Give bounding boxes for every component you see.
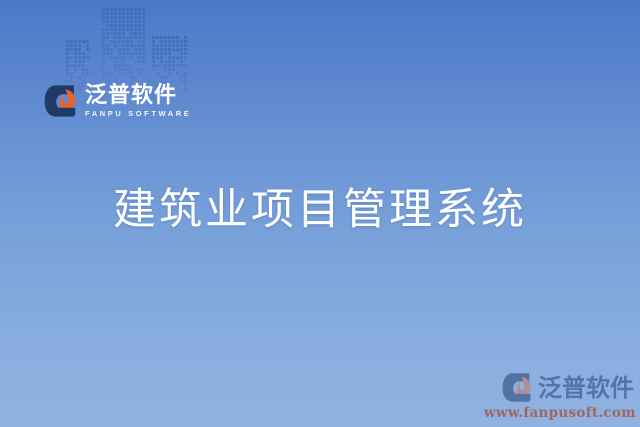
skyline-pixel bbox=[118, 24, 121, 27]
skyline-pixel bbox=[118, 16, 121, 19]
skyline-pixel bbox=[142, 12, 145, 15]
brand-name-cn: 泛普软件 bbox=[85, 84, 191, 107]
skyline-pixel bbox=[130, 76, 133, 79]
skyline-pixel bbox=[176, 44, 179, 47]
skyline-pixel bbox=[168, 36, 171, 39]
skyline-pixel bbox=[152, 48, 155, 51]
skyline-pixel bbox=[110, 40, 113, 43]
skyline-pixel bbox=[142, 52, 145, 55]
skyline-pixel bbox=[70, 48, 73, 51]
skyline-pixel bbox=[118, 56, 121, 59]
skyline-pixel bbox=[176, 48, 179, 51]
skyline-pixel bbox=[102, 52, 105, 55]
skyline-pixel bbox=[164, 68, 167, 71]
skyline-pixel bbox=[138, 16, 141, 19]
skyline-pixel bbox=[180, 76, 183, 79]
skyline-pixel bbox=[86, 56, 89, 59]
skyline-pixel bbox=[74, 64, 77, 67]
skyline-pixel bbox=[110, 48, 113, 51]
skyline-pixel bbox=[156, 36, 159, 39]
skyline-pixel bbox=[110, 20, 113, 23]
skyline-pixel bbox=[168, 44, 171, 47]
skyline-pixel bbox=[142, 68, 145, 71]
skyline-pixel bbox=[78, 48, 81, 51]
skyline-pixel bbox=[126, 52, 129, 55]
skyline-pixel bbox=[168, 48, 171, 51]
skyline-pixel bbox=[106, 12, 109, 15]
skyline-pixel bbox=[160, 52, 163, 55]
skyline-pixel bbox=[176, 40, 179, 43]
skyline-pixel bbox=[138, 24, 141, 27]
skyline-pixel bbox=[122, 40, 125, 43]
skyline-pixel bbox=[102, 72, 105, 75]
skyline-pixel bbox=[114, 76, 117, 79]
skyline-pixel bbox=[164, 40, 167, 43]
skyline-pixel bbox=[126, 8, 129, 11]
skyline-pixel bbox=[138, 44, 141, 47]
skyline-pixel bbox=[66, 68, 69, 71]
skyline-pixel bbox=[134, 24, 137, 27]
skyline-pixel bbox=[172, 48, 175, 51]
skyline-pixel bbox=[176, 56, 179, 59]
skyline-pixel bbox=[164, 60, 167, 63]
skyline-pixel bbox=[102, 68, 105, 71]
skyline-pixel bbox=[102, 32, 105, 35]
skyline-pixel bbox=[66, 40, 69, 43]
skyline-pixel bbox=[138, 68, 141, 71]
skyline-pixel bbox=[74, 56, 77, 59]
skyline-pixel bbox=[184, 64, 187, 67]
skyline-pixel bbox=[74, 60, 77, 63]
skyline-pixel bbox=[184, 48, 187, 51]
skyline-pixel bbox=[152, 40, 155, 43]
skyline-pixel bbox=[164, 76, 167, 79]
skyline-pixel bbox=[160, 56, 163, 59]
skyline-pixel bbox=[106, 36, 109, 39]
skyline-pixel bbox=[138, 8, 141, 11]
skyline-pixel bbox=[74, 52, 77, 55]
skyline-pixel bbox=[66, 44, 69, 47]
skyline-pixel bbox=[156, 44, 159, 47]
skyline-pixel bbox=[118, 28, 121, 31]
skyline-pixel bbox=[110, 8, 113, 11]
skyline-pixel bbox=[156, 52, 159, 55]
skyline-pixel bbox=[106, 24, 109, 27]
skyline-pixel bbox=[82, 56, 85, 59]
skyline-pixel bbox=[102, 28, 105, 31]
brand-logo: 泛普软件 FANPU SOFTWARE bbox=[44, 84, 191, 118]
skyline-pixel bbox=[142, 44, 145, 47]
skyline-pixel bbox=[74, 40, 77, 43]
skyline-pixel bbox=[160, 60, 163, 63]
skyline-pixel bbox=[114, 68, 117, 71]
skyline-pixel bbox=[142, 56, 145, 59]
skyline-pixel bbox=[160, 40, 163, 43]
skyline-pixel bbox=[134, 20, 137, 23]
skyline-pixel bbox=[130, 40, 133, 43]
skyline-pixel bbox=[78, 60, 81, 63]
skyline-pixel bbox=[122, 44, 125, 47]
skyline-pixel bbox=[168, 68, 171, 71]
skyline-pixel bbox=[110, 32, 113, 35]
skyline-pixel bbox=[152, 60, 155, 63]
skyline-pixel bbox=[126, 64, 129, 67]
skyline-pixel bbox=[110, 28, 113, 31]
skyline-pixel bbox=[138, 32, 141, 35]
skyline-pixel bbox=[118, 20, 121, 23]
skyline-pixel bbox=[180, 80, 183, 83]
skyline-pixel bbox=[66, 72, 69, 75]
skyline-pixel bbox=[110, 16, 113, 19]
skyline-pixel bbox=[168, 64, 171, 67]
skyline-pixel bbox=[142, 48, 145, 51]
skyline-pixel bbox=[184, 36, 187, 39]
skyline-pixel bbox=[82, 72, 85, 75]
skyline-pixel bbox=[156, 48, 159, 51]
skyline-pixel bbox=[86, 68, 89, 71]
skyline-pixel bbox=[142, 28, 145, 31]
skyline-pixel bbox=[82, 40, 85, 43]
skyline-pixel bbox=[114, 36, 117, 39]
skyline-pixel bbox=[142, 40, 145, 43]
skyline-pixel bbox=[134, 36, 137, 39]
skyline-pixel bbox=[66, 56, 69, 59]
skyline-pixel bbox=[152, 56, 155, 59]
skyline-pixel bbox=[126, 68, 129, 71]
skyline-pixel bbox=[110, 52, 113, 55]
skyline-pixel bbox=[180, 64, 183, 67]
skyline-pixel bbox=[114, 12, 117, 15]
skyline-pixel bbox=[142, 24, 145, 27]
skyline-pixel bbox=[176, 64, 179, 67]
skyline-pixel bbox=[138, 56, 141, 59]
watermark-name-cn: 泛普软件 bbox=[538, 376, 634, 400]
skyline-pixel bbox=[172, 44, 175, 47]
skyline-pixel bbox=[138, 52, 141, 55]
skyline-pixel bbox=[66, 48, 69, 51]
skyline-pixel bbox=[180, 56, 183, 59]
skyline-pixel bbox=[106, 52, 109, 55]
skyline-pixel bbox=[102, 12, 105, 15]
skyline-pixel bbox=[82, 52, 85, 55]
skyline-pixel bbox=[122, 28, 125, 31]
skyline-pixel bbox=[106, 48, 109, 51]
skyline-pixel bbox=[86, 40, 89, 43]
skyline-pixel bbox=[122, 48, 125, 51]
skyline-pixel bbox=[138, 48, 141, 51]
skyline-pixel bbox=[78, 52, 81, 55]
skyline-pixel bbox=[114, 8, 117, 11]
skyline-pixel bbox=[160, 76, 163, 79]
skyline-pixel bbox=[142, 8, 145, 11]
skyline-pixel bbox=[134, 16, 137, 19]
skyline-pixel bbox=[130, 16, 133, 19]
skyline-pixel bbox=[106, 8, 109, 11]
skyline-pixel bbox=[106, 16, 109, 19]
skyline-pixel bbox=[106, 44, 109, 47]
skyline-pixel bbox=[180, 48, 183, 51]
page-title: 建筑业项目管理系统 bbox=[0, 186, 640, 235]
skyline-pixel bbox=[138, 40, 141, 43]
skyline-pixel bbox=[134, 8, 137, 11]
skyline-pixel bbox=[110, 72, 113, 75]
skyline-pixel bbox=[66, 80, 69, 83]
skyline-pixel bbox=[102, 36, 105, 39]
skyline-pixel bbox=[142, 20, 145, 23]
skyline-pixel bbox=[164, 48, 167, 51]
skyline-pixel bbox=[130, 72, 133, 75]
skyline-pixel bbox=[164, 52, 167, 55]
skyline-pixel bbox=[122, 16, 125, 19]
skyline-pixel bbox=[130, 8, 133, 11]
skyline-pixel bbox=[126, 28, 129, 31]
skyline-pixel bbox=[138, 28, 141, 31]
skyline-pixel bbox=[168, 56, 171, 59]
skyline-pixel bbox=[160, 44, 163, 47]
skyline-pixel bbox=[118, 32, 121, 35]
watermark-logo-row: 泛普软件 bbox=[484, 372, 634, 403]
skyline-pixel bbox=[142, 36, 145, 39]
skyline-pixel bbox=[130, 24, 133, 27]
skyline-pixel bbox=[70, 56, 73, 59]
skyline-pixel bbox=[172, 60, 175, 63]
skyline-pixel bbox=[184, 72, 187, 75]
splash-screen: 泛普软件 FANPU SOFTWARE 建筑业项目管理系统 泛普软件 www.f… bbox=[0, 0, 640, 427]
skyline-pixel bbox=[130, 32, 133, 35]
skyline-pixel bbox=[86, 72, 89, 75]
skyline-pixel bbox=[106, 72, 109, 75]
skyline-pixel bbox=[70, 72, 73, 75]
skyline-pixel bbox=[176, 36, 179, 39]
skyline-pixel bbox=[102, 20, 105, 23]
skyline-pixel bbox=[70, 76, 73, 79]
skyline-pixel bbox=[168, 72, 171, 75]
skyline-pixel bbox=[184, 40, 187, 43]
skyline-pixel bbox=[184, 56, 187, 59]
skyline-pixel bbox=[70, 64, 73, 67]
brand-wordmark: 泛普软件 FANPU SOFTWARE bbox=[85, 84, 191, 118]
skyline-pixel bbox=[74, 68, 77, 71]
skyline-pixel bbox=[180, 52, 183, 55]
skyline-pixel bbox=[134, 12, 137, 15]
skyline-pixel bbox=[122, 8, 125, 11]
skyline-pixel bbox=[130, 44, 133, 47]
fanpu-logo-mark-watermark-icon bbox=[502, 372, 533, 403]
skyline-pixel bbox=[130, 36, 133, 39]
skyline-pixel bbox=[138, 12, 141, 15]
skyline-pixel bbox=[134, 60, 137, 63]
skyline-pixel bbox=[106, 32, 109, 35]
skyline-pixel bbox=[152, 44, 155, 47]
skyline-pixel bbox=[102, 76, 105, 79]
skyline-pixel bbox=[66, 64, 69, 67]
skyline-pixel bbox=[122, 72, 125, 75]
skyline-pixel bbox=[138, 60, 141, 63]
skyline-pixel bbox=[126, 20, 129, 23]
skyline-pixel bbox=[102, 48, 105, 51]
brand-name-en: FANPU SOFTWARE bbox=[85, 110, 191, 118]
skyline-pixel bbox=[152, 52, 155, 55]
skyline-pixel bbox=[126, 44, 129, 47]
skyline-pixel bbox=[126, 48, 129, 51]
skyline-pixel bbox=[126, 40, 129, 43]
skyline-pixel bbox=[114, 32, 117, 35]
skyline-pixel bbox=[130, 12, 133, 15]
skyline-pixel bbox=[126, 36, 129, 39]
skyline-pixel bbox=[134, 48, 137, 51]
skyline-pixel bbox=[184, 80, 187, 83]
skyline-pixel bbox=[122, 56, 125, 59]
skyline-pixel bbox=[122, 64, 125, 67]
skyline-pixel bbox=[118, 64, 121, 67]
skyline-pixel bbox=[138, 72, 141, 75]
skyline-pixel bbox=[102, 44, 105, 47]
skyline-pixel bbox=[118, 8, 121, 11]
skyline-pixel bbox=[66, 52, 69, 55]
skyline-pixel bbox=[102, 8, 105, 11]
skyline-pixel bbox=[106, 28, 109, 31]
skyline-pixel bbox=[74, 44, 77, 47]
skyline-pixel bbox=[152, 64, 155, 67]
skyline-pixel bbox=[78, 40, 81, 43]
skyline-pixel bbox=[122, 36, 125, 39]
skyline-pixel bbox=[126, 12, 129, 15]
skyline-pixel bbox=[122, 24, 125, 27]
skyline-pixel bbox=[160, 36, 163, 39]
skyline-pixel bbox=[118, 68, 121, 71]
skyline-pixel bbox=[184, 52, 187, 55]
skyline-pixel bbox=[138, 36, 141, 39]
skyline-pixel bbox=[126, 72, 129, 75]
skyline-pixel bbox=[118, 48, 121, 51]
skyline-pixel bbox=[118, 12, 121, 15]
skyline-pixel bbox=[172, 36, 175, 39]
skyline-pixel bbox=[160, 48, 163, 51]
skyline-pixel bbox=[142, 16, 145, 19]
skyline-pixel bbox=[74, 48, 77, 51]
skyline-pixel bbox=[156, 64, 159, 67]
skyline-pixel bbox=[118, 40, 121, 43]
skyline-pixel bbox=[156, 72, 159, 75]
skyline-pixel bbox=[78, 56, 81, 59]
skyline-pixel bbox=[172, 68, 175, 71]
skyline-pixel bbox=[134, 76, 137, 79]
skyline-pixel bbox=[134, 44, 137, 47]
skyline-pixel bbox=[130, 28, 133, 31]
skyline-pixel bbox=[114, 16, 117, 19]
skyline-pixel bbox=[122, 12, 125, 15]
skyline-pixel bbox=[172, 56, 175, 59]
skyline-pixel bbox=[122, 20, 125, 23]
skyline-pixel bbox=[130, 68, 133, 71]
skyline-pixel bbox=[102, 60, 105, 63]
fanpu-logo-mark-icon bbox=[44, 84, 78, 118]
skyline-pixel bbox=[102, 40, 105, 43]
skyline-pixel bbox=[168, 40, 171, 43]
skyline-pixel bbox=[168, 60, 171, 63]
skyline-pixel bbox=[168, 52, 171, 55]
skyline-pixel bbox=[138, 20, 141, 23]
watermark-url: www.fanpusoft.com bbox=[484, 405, 634, 421]
skyline-pixel bbox=[156, 56, 159, 59]
skyline-pixel bbox=[172, 64, 175, 67]
skyline-pixel bbox=[164, 36, 167, 39]
skyline-pixel bbox=[82, 64, 85, 67]
skyline-pixel bbox=[114, 40, 117, 43]
skyline-pixel bbox=[142, 60, 145, 63]
skyline-pixel bbox=[78, 44, 81, 47]
skyline-pixel bbox=[122, 32, 125, 35]
skyline-pixel bbox=[180, 44, 183, 47]
skyline-pixel bbox=[164, 64, 167, 67]
skyline-pixel bbox=[134, 28, 137, 31]
skyline-pixel bbox=[78, 76, 81, 79]
skyline-pixel bbox=[114, 24, 117, 27]
skyline-pixel bbox=[122, 52, 125, 55]
skyline-pixel bbox=[110, 24, 113, 27]
skyline-pixel bbox=[130, 56, 133, 59]
skyline-pixel bbox=[184, 76, 187, 79]
skyline-pixel bbox=[152, 36, 155, 39]
skyline-pixel bbox=[142, 32, 145, 35]
skyline-pixel bbox=[110, 56, 113, 59]
skyline-pixel bbox=[118, 52, 121, 55]
skyline-pixel bbox=[70, 44, 73, 47]
skyline-pixel bbox=[86, 44, 89, 47]
skyline-pixel bbox=[122, 60, 125, 63]
skyline-pixel bbox=[126, 16, 129, 19]
skyline-pixel bbox=[82, 60, 85, 63]
skyline-pixel bbox=[172, 40, 175, 43]
skyline-pixel bbox=[130, 20, 133, 23]
skyline-pixel bbox=[70, 40, 73, 43]
skyline-pixel bbox=[180, 40, 183, 43]
skyline-pixel bbox=[86, 48, 89, 51]
skyline-pixel bbox=[114, 20, 117, 23]
skyline-pixel bbox=[102, 16, 105, 19]
skyline-pixel bbox=[164, 44, 167, 47]
skyline-pixel bbox=[152, 68, 155, 71]
skyline-pixel bbox=[106, 20, 109, 23]
skyline-pixel bbox=[184, 44, 187, 47]
watermark: 泛普软件 www.fanpusoft.com bbox=[484, 372, 634, 421]
skyline-pixel bbox=[180, 60, 183, 63]
skyline-pixel bbox=[126, 24, 129, 27]
skyline-pixel bbox=[114, 56, 117, 59]
skyline-pixel bbox=[66, 60, 69, 63]
skyline-pixel bbox=[82, 68, 85, 71]
skyline-pixel bbox=[134, 32, 137, 35]
skyline-pixel bbox=[118, 36, 121, 39]
skyline-pixel bbox=[134, 52, 137, 55]
skyline-pixel bbox=[122, 68, 125, 71]
skyline-pixel bbox=[70, 80, 73, 83]
skyline-pixel bbox=[130, 52, 133, 55]
skyline-pixel bbox=[114, 28, 117, 31]
skyline-pixel bbox=[176, 72, 179, 75]
skyline-pixel bbox=[114, 64, 117, 67]
skyline-pixel bbox=[78, 64, 81, 67]
skyline-pixel bbox=[110, 12, 113, 15]
skyline-pixel bbox=[114, 60, 117, 63]
skyline-pixel bbox=[114, 44, 117, 47]
